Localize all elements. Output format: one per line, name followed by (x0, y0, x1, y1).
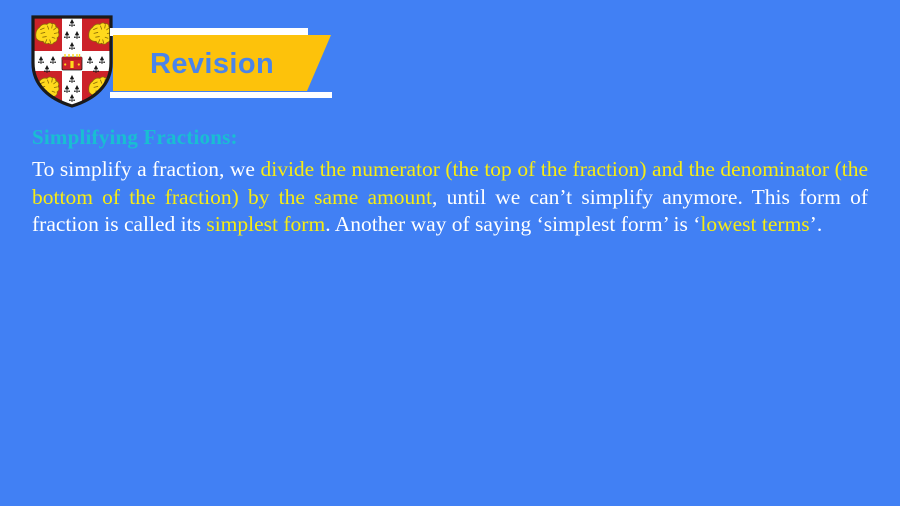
ribbon-top-rule (110, 28, 308, 36)
paragraph-segment-3: simplest form (206, 212, 325, 236)
ribbon-bottom-rule (110, 92, 332, 98)
header-banner: Revision (0, 0, 900, 120)
paragraph-segment-4: . Another way of saying ‘simplest form’ … (325, 212, 700, 236)
paragraph-segment-6: ’. (810, 212, 823, 236)
slide-content: Simplifying Fractions: To simplify a fra… (32, 124, 868, 239)
cambridge-crest-icon (29, 13, 115, 109)
banner-title: Revision (150, 44, 330, 84)
slide-canvas: Revision Simplifying Fractions: To simpl… (0, 0, 900, 506)
paragraph-segment-0: To simplify a fraction, we (32, 157, 260, 181)
section-heading: Simplifying Fractions: (32, 124, 868, 151)
body-paragraph: To simplify a fraction, we divide the nu… (32, 156, 868, 239)
paragraph-segment-5: lowest terms (700, 212, 809, 236)
